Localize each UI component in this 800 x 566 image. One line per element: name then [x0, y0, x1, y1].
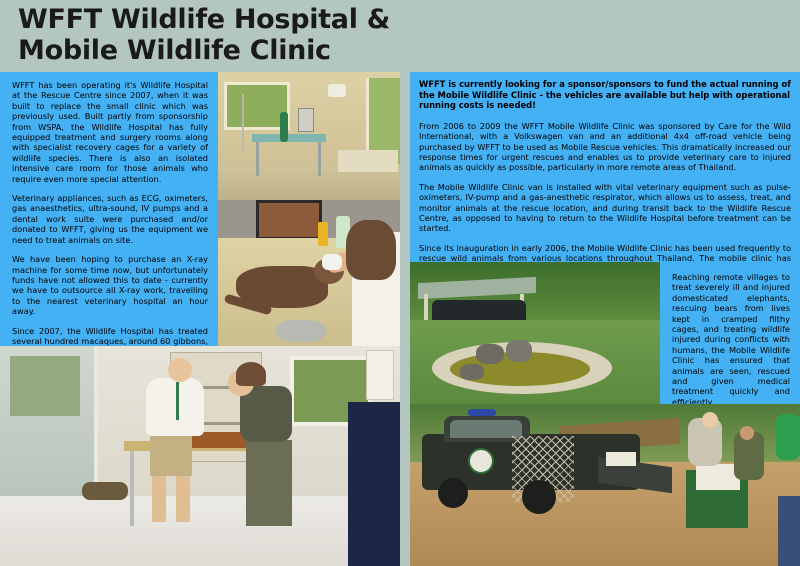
poster-page: WFFT Wildlife Hospital & Mobile Wildlife… [0, 0, 800, 566]
sponsor-appeal-text: WFFT is currently looking for a sponsor/… [419, 79, 791, 111]
rescue-pickup-truck-photo [410, 404, 800, 566]
right-text-panel: WFFT is currently looking for a sponsor/… [410, 72, 800, 262]
macaque-treatment-photo [218, 200, 400, 346]
left-paragraph-2: Veterinary appliances, such as ECG, oxim… [12, 193, 208, 245]
right-paragraph-1: From 2006 to 2009 the WFFT Mobile Wildli… [419, 121, 791, 173]
page-title: WFFT Wildlife Hospital & Mobile Wildlife… [18, 4, 438, 66]
left-paragraph-3: We have been hoping to purchase an X-ray… [12, 254, 208, 316]
right-column: WFFT is currently looking for a sponsor/… [410, 72, 800, 566]
right-side-text-panel: Reaching remote villages to treat severe… [660, 262, 800, 422]
left-text-panel: WFFT has been operating it's Wildlife Ho… [0, 72, 218, 346]
surgery-room-photo [218, 72, 400, 200]
left-paragraph-1: WFFT has been operating it's Wildlife Ho… [12, 80, 208, 184]
column-divider [400, 0, 410, 566]
hospital-treatment-room-photo [0, 346, 400, 566]
mobile-clinic-impact-text: Reaching remote villages to treat severe… [672, 272, 790, 407]
right-paragraph-2: The Mobile Wildlife Clinic van is instal… [419, 182, 791, 234]
left-column: WFFT has been operating it's Wildlife Ho… [0, 72, 400, 566]
elephant-pool-van-photo [410, 262, 660, 404]
